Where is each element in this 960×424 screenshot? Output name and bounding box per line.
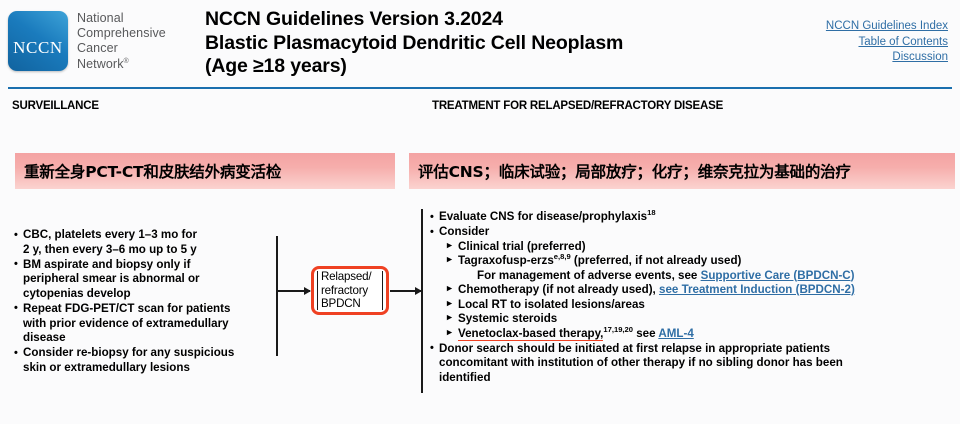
evaluate-cns-superscript: 18 (647, 208, 655, 217)
tagraxofusp-note: For management of adverse events, see Su… (458, 269, 950, 284)
header-links: NCCN Guidelines Index Table of Contents … (826, 19, 948, 66)
relapsed-refractory-bpdcn-box-inner: Relapsed/ refractory BPDCN (317, 271, 383, 310)
page-title: NCCN Guidelines Version 3.2024 Blastic P… (205, 8, 623, 79)
bullet-2-line-3: cytopenias develop (23, 287, 269, 302)
venetoclax-mid: see (633, 327, 658, 340)
evaluate-cns-text: Evaluate CNS for disease/prophylaxis (439, 210, 647, 223)
flow-arrow-into-box (277, 290, 310, 292)
nccn-logo: NCCN National Comprehensive Cancer Netwo… (8, 11, 166, 72)
donor-search-line-2: concomitant with institution of other th… (439, 356, 950, 371)
bullet-3-line-3: disease (23, 331, 269, 346)
bullet-4-line-2: skin or extramedullary lesions (23, 361, 269, 376)
sub-item-tagraxofusp: Tagraxofusp-erzse,8,9 (preferred, if not… (439, 254, 950, 283)
sub-item-local-rt: Local RT to isolated lesions/areas (439, 298, 950, 313)
flow-arrow-out-of-box (390, 290, 421, 292)
translation-banner-treatment: 评估CNS；临床试验；局部放疗；化疗；维奈克拉为基础的治疗 (409, 153, 955, 189)
tagraxofusp-tail: (preferred, if not already used) (571, 254, 742, 267)
link-supportive-care-bpdcn-c[interactable]: Supportive Care (BPDCN-C) (701, 269, 855, 282)
box-line-2: refractory (321, 284, 371, 297)
systemic-steroids-text: Systemic steroids (458, 312, 557, 325)
box-line-3: BPDCN (321, 297, 371, 310)
header-divider (8, 87, 952, 89)
title-line-1: NCCN Guidelines Version 3.2024 (205, 8, 623, 32)
tagraxofusp-superscript: e,8,9 (554, 252, 571, 261)
chemotherapy-lead: Chemotherapy (if not already used), (458, 283, 659, 296)
tagraxofusp-note-lead: For management of adverse events, see (477, 269, 701, 282)
list-item: BM aspirate and biopsy only if periphera… (14, 258, 269, 302)
registered-mark: ® (124, 57, 129, 64)
link-table-of-contents[interactable]: Table of Contents (826, 35, 948, 51)
donor-search-line-1: Donor search should be initiated at firs… (439, 342, 950, 357)
list-item: Evaluate CNS for disease/prophylaxis18 (430, 210, 950, 225)
org-line-3: Cancer (77, 41, 166, 56)
venetoclax-text: Venetoclax-based therapy, (458, 327, 603, 341)
treatment-list: Evaluate CNS for disease/prophylaxis18 C… (430, 210, 950, 386)
sub-item-venetoclax: Venetoclax-based therapy,17,19,20 see AM… (439, 327, 950, 342)
bullet-1-line-1: CBC, platelets every 1–3 mo for (23, 228, 269, 243)
organization-name: National Comprehensive Cancer Network® (77, 11, 166, 72)
link-aml-4[interactable]: AML-4 (658, 327, 693, 340)
tagraxofusp-text: Tagraxofusp-erzs (458, 254, 554, 267)
translation-banner-treatment-text: 评估CNS；临床试验；局部放疗；化疗；维奈克拉为基础的治疗 (409, 160, 851, 182)
list-item: CBC, platelets every 1–3 mo for 2 y, the… (14, 228, 269, 257)
surveillance-list: CBC, platelets every 1–3 mo for 2 y, the… (14, 228, 269, 376)
page-header: NCCN National Comprehensive Cancer Netwo… (0, 0, 960, 88)
list-item: Consider re-biopsy for any suspicious sk… (14, 346, 269, 375)
sub-item-clinical-trial: Clinical trial (preferred) (439, 240, 950, 255)
list-item: Donor search should be initiated at firs… (430, 342, 950, 386)
flow-vertical-connector-right (421, 209, 423, 393)
section-heading-surveillance: SURVEILLANCE (12, 100, 99, 112)
bullet-2-line-2: peripheral smear is abnormal or (23, 272, 269, 287)
sub-item-systemic-steroids: Systemic steroids (439, 312, 950, 327)
bullet-3-line-2: with prior evidence of extramedullary (23, 317, 269, 332)
link-discussion[interactable]: Discussion (826, 50, 948, 66)
bullet-3-line-1: Repeat FDG-PET/CT scan for patients (23, 302, 269, 317)
clinical-trial-text: Clinical trial (preferred) (458, 240, 586, 253)
relapsed-refractory-bpdcn-box: Relapsed/ refractory BPDCN (311, 266, 389, 315)
org-line-4: Network® (77, 57, 166, 72)
title-line-2: Blastic Plasmacytoid Dendritic Cell Neop… (205, 32, 623, 56)
box-line-1: Relapsed/ (321, 270, 371, 283)
org-line-4-text: Network (77, 57, 124, 71)
section-heading-treatment: TREATMENT FOR RELAPSED/REFRACTORY DISEAS… (432, 100, 723, 112)
bullet-1-line-2: 2 y, then every 3–6 mo up to 5 y (23, 243, 269, 258)
title-line-3: (Age ≥18 years) (205, 55, 623, 79)
donor-search-line-3: identified (439, 371, 950, 386)
nccn-logo-mark: NCCN (8, 11, 68, 71)
consider-text: Consider (439, 225, 489, 238)
link-treatment-induction-bpdcn-2[interactable]: see Treatment Induction (BPDCN-2) (659, 283, 855, 296)
flow-vertical-connector-left (276, 236, 278, 356)
venetoclax-superscript: 17,19,20 (603, 325, 633, 334)
translation-banner-surveillance: 重新全身PCT-CT和皮肤结外病变活检 (15, 153, 395, 189)
list-item: Repeat FDG-PET/CT scan for patients with… (14, 302, 269, 346)
guideline-page: NCCN National Comprehensive Cancer Netwo… (0, 0, 960, 424)
translation-banner-surveillance-text: 重新全身PCT-CT和皮肤结外病变活检 (15, 160, 281, 182)
org-line-1: National (77, 11, 166, 26)
sub-item-chemotherapy: Chemotherapy (if not already used), see … (439, 283, 950, 298)
list-item: Consider Clinical trial (preferred) Tagr… (430, 225, 950, 341)
relapsed-refractory-bpdcn-label: Relapsed/ refractory BPDCN (318, 270, 371, 310)
bullet-2-line-1: BM aspirate and biopsy only if (23, 258, 269, 273)
local-rt-text: Local RT to isolated lesions/areas (458, 298, 645, 311)
nccn-logo-text: NCCN (13, 38, 63, 71)
org-line-2: Comprehensive (77, 26, 166, 41)
link-nccn-guidelines-index[interactable]: NCCN Guidelines Index (826, 19, 948, 35)
bullet-4-line-1: Consider re-biopsy for any suspicious (23, 346, 269, 361)
